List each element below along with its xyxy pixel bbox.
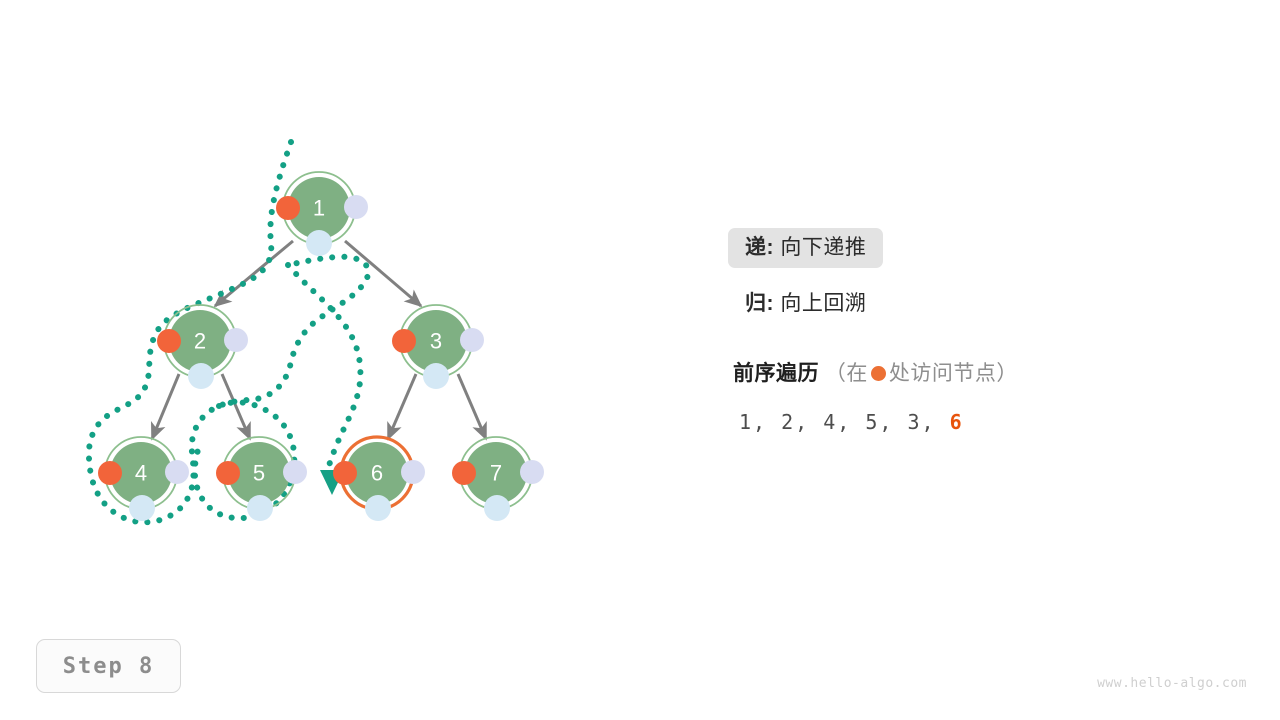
legend-line-recurse: 递: 向下递推 (728, 228, 1248, 268)
visit-dot (333, 461, 357, 485)
node-label: 5 (253, 461, 265, 486)
visit-dot (157, 329, 181, 353)
recursion-path-segment (288, 265, 360, 478)
visit-dot (392, 329, 416, 353)
node-label: 4 (135, 461, 147, 486)
edge-1-2 (215, 241, 293, 306)
watermark-text: www.hello-algo.com (1097, 676, 1247, 691)
tree-node-6[interactable]: 6 (333, 437, 425, 521)
right-child-dot (224, 328, 248, 352)
right-child-dot (283, 460, 307, 484)
legend-panel: 递: 向下递推 归: 向上回溯 (728, 228, 1248, 340)
node-label: 1 (313, 196, 325, 221)
legend-key-backtrack: 归: (745, 292, 774, 315)
traversal-title: 前序遍历 (733, 362, 819, 385)
right-child-dot (165, 460, 189, 484)
tree-node-2[interactable]: 2 (157, 305, 248, 389)
visit-marker-icon (871, 366, 886, 381)
bottom-dot (247, 495, 273, 521)
legend-text-recurse: 向下递推 (774, 236, 866, 259)
step-badge: Step 8 (36, 639, 181, 693)
traversal-note-prefix: （在 (825, 362, 868, 385)
edge-2-5 (222, 374, 250, 439)
visit-dot (98, 461, 122, 485)
tree-node-3[interactable]: 3 (392, 305, 484, 389)
tree-node-7[interactable]: 7 (452, 437, 544, 521)
node-label: 2 (194, 329, 206, 354)
traversal-sequence-previous: 1, 2, 4, 5, 3, (739, 410, 936, 434)
legend-text-backtrack: 向上回溯 (774, 292, 866, 315)
node-label: 3 (430, 329, 442, 354)
binary-tree-diagram: 1 2 3 4 (0, 0, 1280, 720)
edge-2-4 (152, 374, 179, 439)
step-label: Step 8 (63, 654, 154, 679)
right-child-dot (460, 328, 484, 352)
bottom-dot (188, 363, 214, 389)
bottom-dot (306, 230, 332, 256)
edge-1-3 (345, 241, 421, 306)
node-label: 7 (490, 461, 502, 486)
visit-dot (216, 461, 240, 485)
bottom-dot (423, 363, 449, 389)
watermark: www.hello-algo.com (1097, 676, 1247, 691)
tree-node-4[interactable]: 4 (98, 437, 189, 521)
edge-3-6 (388, 374, 416, 439)
tree-nodes: 1 2 3 4 (98, 172, 544, 521)
legend-line-backtrack: 归: 向上回溯 (728, 284, 1248, 324)
edge-3-7 (458, 374, 486, 439)
traversal-heading: 前序遍历 （在处访问节点） (733, 363, 1018, 384)
bottom-dot (365, 495, 391, 521)
bottom-dot (129, 495, 155, 521)
legend-key-recurse: 递: (745, 236, 774, 259)
visit-dot (276, 196, 300, 220)
node-label: 6 (371, 461, 383, 486)
traversal-note-suffix: 处访问节点） (889, 362, 1018, 385)
right-child-dot (520, 460, 544, 484)
traversal-sequence: 1, 2, 4, 5, 3, 6 (739, 412, 964, 432)
right-child-dot (401, 460, 425, 484)
visit-dot (452, 461, 476, 485)
bottom-dot (484, 495, 510, 521)
traversal-sequence-current: 6 (950, 410, 964, 434)
right-child-dot (344, 195, 368, 219)
